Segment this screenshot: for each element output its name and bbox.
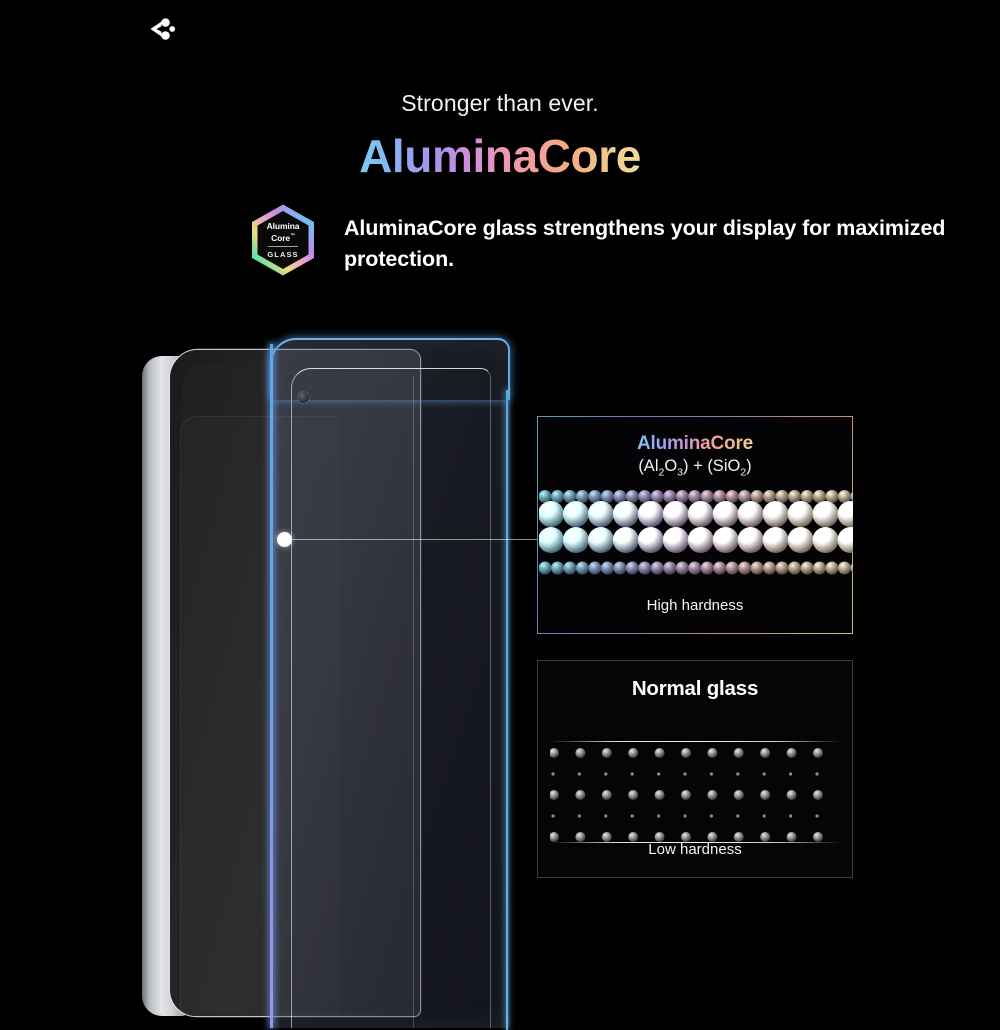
formula-part: O <box>664 457 677 475</box>
headline-block: Stronger than ever. AluminaCore <box>0 90 1000 183</box>
normal-panel-heading: Normal glass <box>538 661 852 701</box>
alumina-hardness-label: High hardness <box>538 597 852 614</box>
callout-dot <box>277 532 292 547</box>
comparison-panel-normal-glass: Normal glass Low hardness <box>537 660 853 878</box>
formula-part: ) + (SiO <box>683 457 740 475</box>
eyebrow-text: Stronger than ever. <box>0 90 1000 117</box>
spigen-logo <box>144 12 178 46</box>
sparse-molecular-lattice <box>550 743 842 843</box>
normal-hardness-label: Low hardness <box>538 841 852 858</box>
glass-seam-line <box>413 376 414 1028</box>
normal-panel-title: Normal glass <box>538 677 852 701</box>
glass-edge-right-glow <box>506 390 508 1030</box>
comparison-panel-alumina: AluminaCore (Al2O3) + (SiO2) High hardne… <box>537 416 853 634</box>
device-illustration <box>120 330 540 1010</box>
intro-description: AluminaCore glass strengthens your displ… <box>344 203 1000 275</box>
alumina-chemical-formula: (Al2O3) + (SiO2) <box>538 457 852 478</box>
formula-part: (Al <box>638 457 658 475</box>
glass-edge-left-glow <box>270 344 273 1028</box>
intro-row: Alumina Core™ GLASS AluminaCore glass st… <box>250 203 1000 277</box>
alumina-panel-title: AluminaCore <box>637 433 753 455</box>
dense-molecular-lattice <box>539 490 853 576</box>
glass-edge-top-glow <box>270 338 510 400</box>
formula-part: ) <box>746 457 752 475</box>
alumina-panel-heading: AluminaCore (Al2O3) + (SiO2) <box>538 417 852 478</box>
aluminacore-glass-badge: Alumina Core™ GLASS <box>250 203 316 277</box>
page-title: AluminaCore <box>359 129 641 183</box>
glass-inner-edge <box>291 368 491 1028</box>
front-camera-icon <box>298 392 309 403</box>
